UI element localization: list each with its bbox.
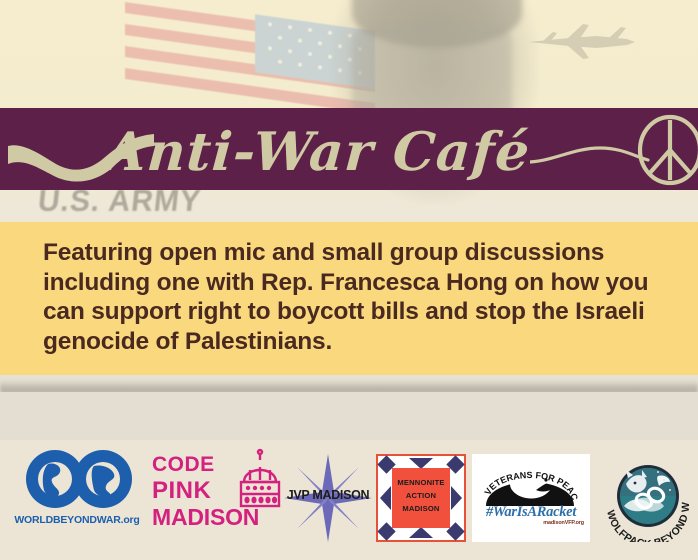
- title-banner: Anti-War Café: [0, 108, 698, 190]
- dove-icon: VETERANS FOR PEACE: [480, 456, 580, 508]
- sponsor-mennonite-action-madison[interactable]: MENNONITE ACTION MADISON: [376, 440, 468, 560]
- sponsor-label-line2: PINK: [152, 479, 244, 503]
- callout-text: Featuring open mic and small group discu…: [43, 238, 668, 356]
- sponsor-world-beyond-war[interactable]: WORLDBEYONDWAR.org: [8, 440, 146, 560]
- sponsor-logo-strip: WORLDBEYONDWAR.org CODE PINK MADISON: [0, 440, 698, 560]
- sponsor-label-line1: CODE: [152, 454, 244, 475]
- sponsor-label: JVP MADISON: [278, 488, 378, 502]
- sponsor-label-line1: MENNONITE: [386, 476, 456, 489]
- banner-tail-stroke: [530, 146, 650, 168]
- page-title: Anti-War Café: [102, 114, 587, 190]
- sponsor-label: WORLDBEYONDWAR.org: [8, 514, 146, 526]
- wolf-dove-infinity-icon: WOLFPACK BEYOND WAR: [602, 450, 694, 542]
- sponsor-label-line2: ACTION: [386, 489, 456, 502]
- army-faded-text: U.S. ARMY: [36, 185, 202, 219]
- vfp-url: madisonVFP.org: [472, 520, 584, 526]
- sponsor-veterans-for-peace[interactable]: VETERANS FOR PEACE #WarIsARacket madison…: [472, 440, 590, 560]
- code-pink-wordmark: CODE PINK: [152, 454, 244, 503]
- sponsor-label-line3: MADISON: [386, 502, 456, 515]
- callout-box: Featuring open mic and small group discu…: [0, 222, 698, 375]
- anti-war-cafe-poster: U.S. ARMY Anti-War Café Featuring open m…: [0, 0, 698, 560]
- sponsor-jvp-madison[interactable]: JVP MADISON: [278, 440, 378, 560]
- peace-sign-icon: [634, 114, 698, 186]
- capitol-dome-icon: [236, 448, 284, 510]
- sponsor-wolfpack-beyond-war[interactable]: WOLFPACK BEYOND WAR: [598, 440, 698, 560]
- sponsor-label: MENNONITE ACTION MADISON: [386, 476, 456, 515]
- sponsor-code-pink-madison[interactable]: CODE PINK MADISON: [150, 440, 272, 560]
- globe-infinity-icon: [24, 448, 134, 510]
- fighter-jet-icon: [523, 22, 643, 62]
- vfp-hashtag: #WarIsARacket: [472, 504, 590, 521]
